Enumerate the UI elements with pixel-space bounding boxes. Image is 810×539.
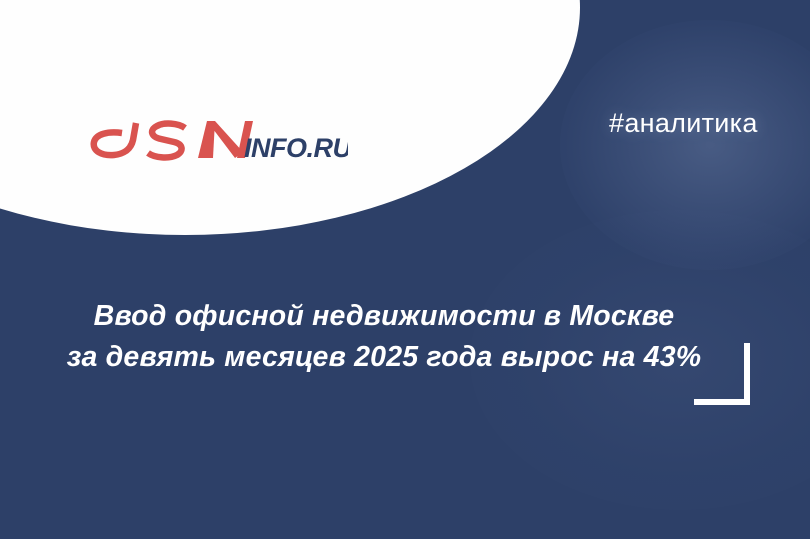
svg-text:INFO.RU: INFO.RU xyxy=(244,133,348,163)
headline-line-1: Ввод офисной недвижимости в Москве xyxy=(0,296,768,337)
headline-line-2: за девять месяцев 2025 года вырос на 43% xyxy=(0,337,768,378)
asninfo-logo[interactable]: INFO.RU xyxy=(86,112,348,170)
bracket-horizontal-bar xyxy=(694,399,750,405)
glow-decoration-top-right xyxy=(560,20,810,270)
social-card: INFO.RU #аналитика Ввод офисной недвижим… xyxy=(0,0,810,539)
logo-svg: INFO.RU xyxy=(86,112,348,170)
hashtag-label: #аналитика xyxy=(609,108,758,139)
headline: Ввод офисной недвижимости в Москве за де… xyxy=(0,296,768,379)
